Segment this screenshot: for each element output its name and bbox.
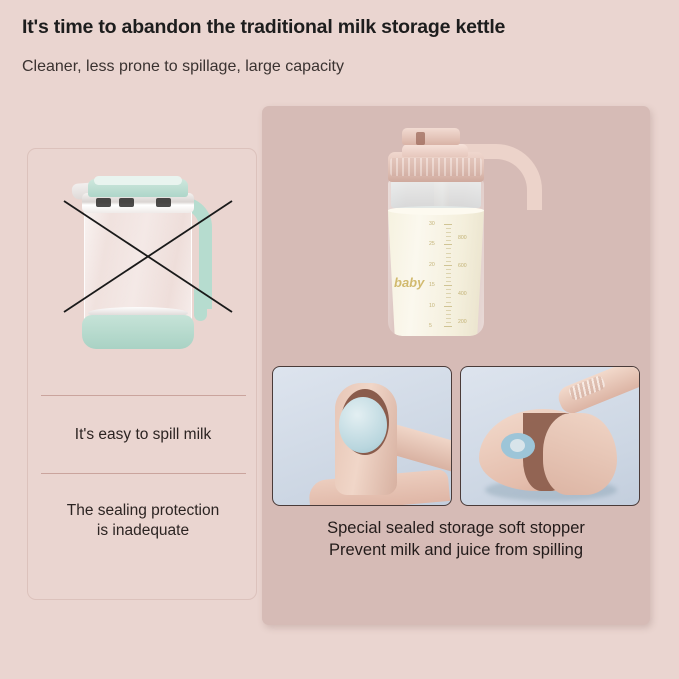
scale-tick-minor — [446, 253, 451, 254]
scale-label-ml: 800 — [458, 235, 467, 241]
divider-bottom — [41, 473, 246, 474]
caption-line-1: Special sealed storage soft stopper — [262, 518, 650, 540]
lid-right-half — [543, 413, 617, 495]
page-title: It's time to abandon the traditional mil… — [22, 16, 505, 39]
drawback-sealing-line1: The sealing protection — [28, 501, 258, 521]
scale-tick-minor — [446, 232, 451, 233]
traditional-kettle-image — [28, 149, 258, 364]
scale-label-oz: 15 — [429, 282, 435, 288]
scale-tick-minor — [446, 261, 451, 262]
scale-label-oz: 5 — [429, 323, 432, 329]
silicone-stopper-disc — [339, 397, 387, 453]
kettle-handle-tail — [194, 289, 207, 321]
scale-tick-minor — [446, 318, 451, 319]
scale-tick-minor — [446, 257, 451, 258]
scale-label-oz: 25 — [429, 241, 435, 247]
traditional-kettle-illustration — [68, 171, 208, 349]
scale-tick-minor — [446, 281, 451, 282]
scale-tick-minor — [446, 297, 451, 298]
sealed-lid-closeup — [460, 366, 640, 506]
pitcher-flip-spout — [402, 128, 460, 145]
silicone-valve-center — [510, 439, 525, 452]
drawback-text-spill: It's easy to spill milk — [28, 425, 258, 445]
drawback-sealing-line2: is inadequate — [28, 521, 258, 541]
pitcher-flip-latch — [416, 132, 425, 145]
scale-tick-major — [444, 326, 452, 327]
kettle-base — [82, 315, 194, 349]
infographic-page: It's time to abandon the traditional mil… — [0, 0, 679, 679]
drawback-text-sealing: The sealing protection is inadequate — [28, 501, 258, 541]
scale-tick-minor — [446, 273, 451, 274]
scale-tick-minor — [446, 322, 451, 323]
scale-tick-major — [444, 244, 452, 245]
scale-label-oz: 20 — [429, 262, 435, 268]
caption-line-2: Prevent milk and juice from spilling — [262, 540, 650, 562]
scale-tick-minor — [446, 289, 451, 290]
scale-label-ml: 200 — [458, 319, 467, 325]
scale-tick-minor — [446, 293, 451, 294]
detail-photo-row — [272, 366, 640, 506]
scale-tick-minor — [446, 277, 451, 278]
scale-tick-minor — [446, 310, 451, 311]
milk-pitcher-illustration: baby 30252015105800600400200 — [380, 122, 570, 356]
product-panel: baby 30252015105800600400200 — [262, 106, 650, 625]
pitcher-lid-cap — [402, 144, 468, 157]
scale-tick-minor — [446, 240, 451, 241]
soft-stopper-closeup — [272, 366, 452, 506]
scale-tick-minor — [446, 269, 451, 270]
scale-label-ml: 600 — [458, 263, 467, 269]
scale-tick-major — [444, 224, 452, 225]
measurement-scale: 30252015105800600400200 — [430, 220, 482, 332]
scale-tick-minor — [446, 228, 451, 229]
product-caption: Special sealed storage soft stopper Prev… — [262, 518, 650, 562]
divider-top — [41, 395, 246, 396]
scale-tick-major — [444, 285, 452, 286]
traditional-kettle-panel: It's easy to spill milk The sealing prot… — [27, 148, 257, 600]
lid-handle — [555, 366, 640, 417]
scale-tick-major — [444, 306, 452, 307]
scale-tick-minor — [446, 248, 451, 249]
scale-tick-minor — [446, 236, 451, 237]
scale-label-ml: 400 — [458, 291, 467, 297]
brand-label: baby — [394, 275, 424, 290]
scale-tick-minor — [446, 302, 451, 303]
kettle-lid-top — [94, 176, 182, 185]
scale-label-oz: 30 — [429, 221, 435, 227]
scale-label-oz: 10 — [429, 303, 435, 309]
product-hero-image: baby 30252015105800600400200 — [262, 106, 650, 354]
kettle-rim-markings — [88, 198, 188, 207]
pitcher-lid-ribs — [390, 158, 482, 176]
pitcher-neck — [391, 180, 481, 208]
page-subtitle: Cleaner, less prone to spillage, large c… — [22, 58, 344, 76]
scale-tick-minor — [446, 314, 451, 315]
scale-tick-major — [444, 265, 452, 266]
